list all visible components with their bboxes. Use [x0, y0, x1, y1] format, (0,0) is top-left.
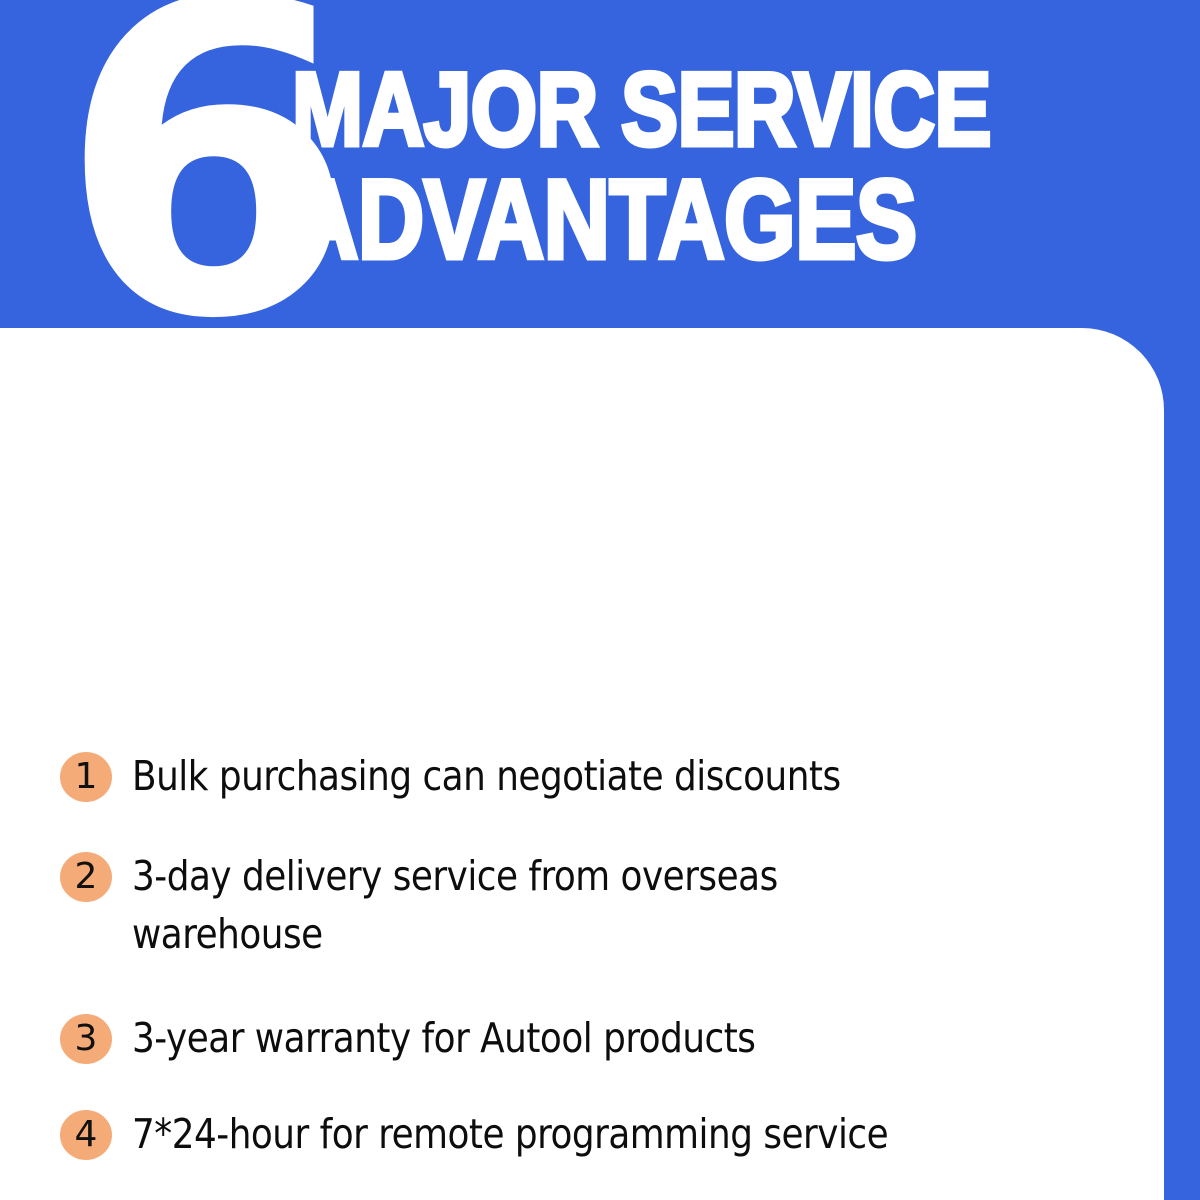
poster-root: 1 Bulk purchasing can negotiate discount…: [0, 0, 1200, 1200]
list-item: 4 7*24-hour for remote programming servi…: [60, 1110, 1120, 1163]
list-item: 2 3-day delivery service from overseas w…: [60, 852, 1120, 963]
list-item-number-badge: 3: [60, 1014, 112, 1064]
right-blue-strip: [1164, 328, 1200, 1200]
headline-title-line-1: MAJOR SERVICE: [292, 62, 1014, 158]
list-item-number-badge: 2: [60, 852, 112, 902]
list-item-number-badge: 4: [60, 1110, 112, 1160]
list-item-label: 3-day delivery service from overseas war…: [132, 847, 937, 963]
list-item: 1 Bulk purchasing can negotiate discount…: [60, 752, 1120, 805]
headline-title-line-2: ADVANTAGES: [292, 172, 1014, 268]
content-card: 1 Bulk purchasing can negotiate discount…: [0, 328, 1164, 1200]
headline-title: MAJOR SERVICE ADVANTAGES: [292, 62, 1172, 268]
list-item-number-badge: 1: [60, 752, 112, 802]
list-item-label: 7*24-hour for remote programming service: [132, 1105, 1090, 1163]
list-item: 3 3-year warranty for Autool products: [60, 1014, 1120, 1067]
list-item-label: Bulk purchasing can negotiate discounts: [132, 747, 1090, 805]
list-item-label: 3-year warranty for Autool products: [132, 1009, 1090, 1067]
